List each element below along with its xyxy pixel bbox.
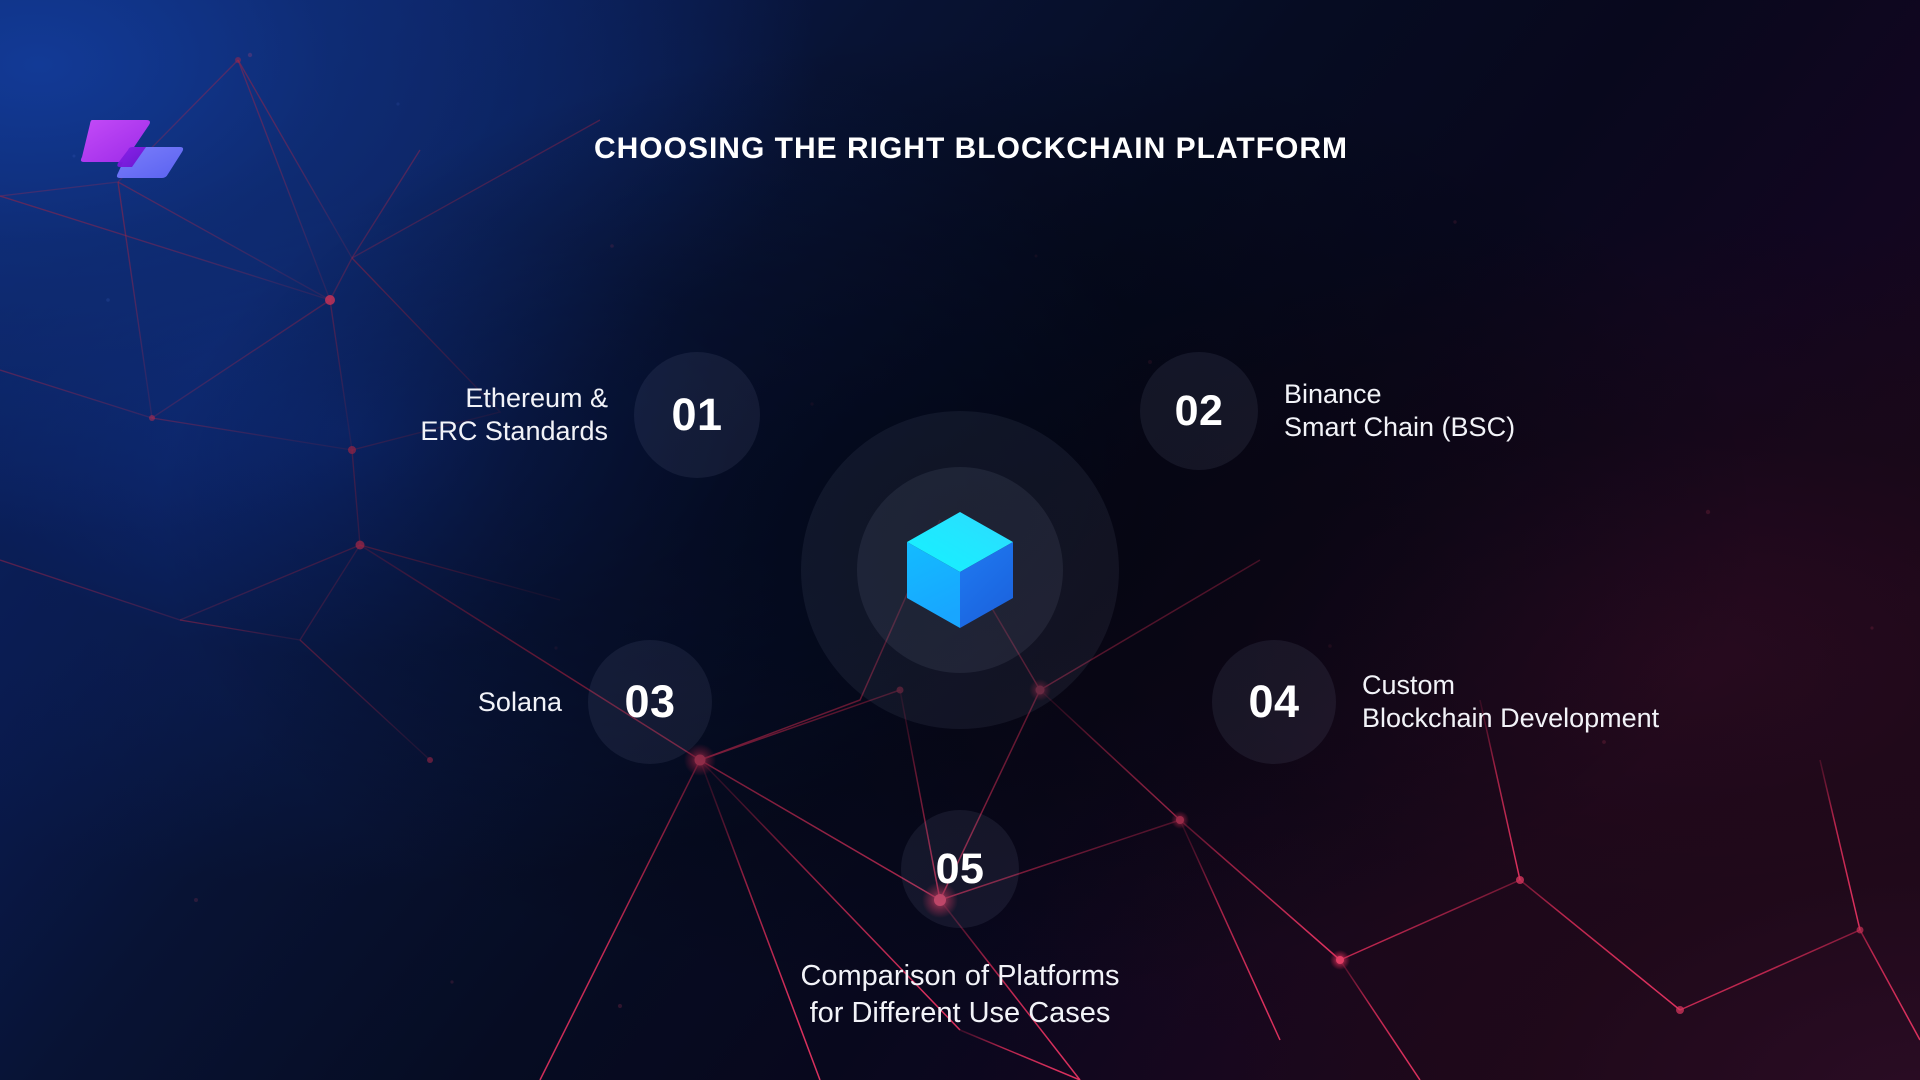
node-solana[interactable]: Solana 03 bbox=[380, 640, 712, 764]
node-label-02: Binance Smart Chain (BSC) bbox=[1284, 378, 1515, 444]
node-number-03: 03 bbox=[588, 640, 712, 764]
node-number-04: 04 bbox=[1212, 640, 1336, 764]
node-label-03: Solana bbox=[478, 686, 562, 719]
slide-canvas: CHOOSING THE RIGHT BLOCKCHAIN PLATFORM bbox=[0, 0, 1920, 1080]
node-binance-smart-chain[interactable]: 02 Binance Smart Chain (BSC) bbox=[1140, 352, 1660, 470]
node-ethereum-erc-standards[interactable]: Ethereum & ERC Standards 01 bbox=[300, 352, 760, 478]
node-custom-blockchain-development[interactable]: 04 Custom Blockchain Development bbox=[1212, 640, 1772, 764]
node-number-02: 02 bbox=[1140, 352, 1258, 470]
node-number-01: 01 bbox=[634, 352, 760, 478]
node-label-01: Ethereum & ERC Standards bbox=[420, 382, 608, 448]
blockchain-cube-icon bbox=[903, 510, 1017, 630]
page-title: CHOOSING THE RIGHT BLOCKCHAIN PLATFORM bbox=[0, 132, 1920, 166]
node-label-04: Custom Blockchain Development bbox=[1362, 669, 1659, 735]
node-label-05: Comparison of Platforms for Different Us… bbox=[800, 958, 1119, 1031]
node-number-05: 05 bbox=[901, 810, 1019, 928]
node-comparison-of-platforms[interactable]: 05 Comparison of Platforms for Different… bbox=[700, 810, 1220, 1031]
